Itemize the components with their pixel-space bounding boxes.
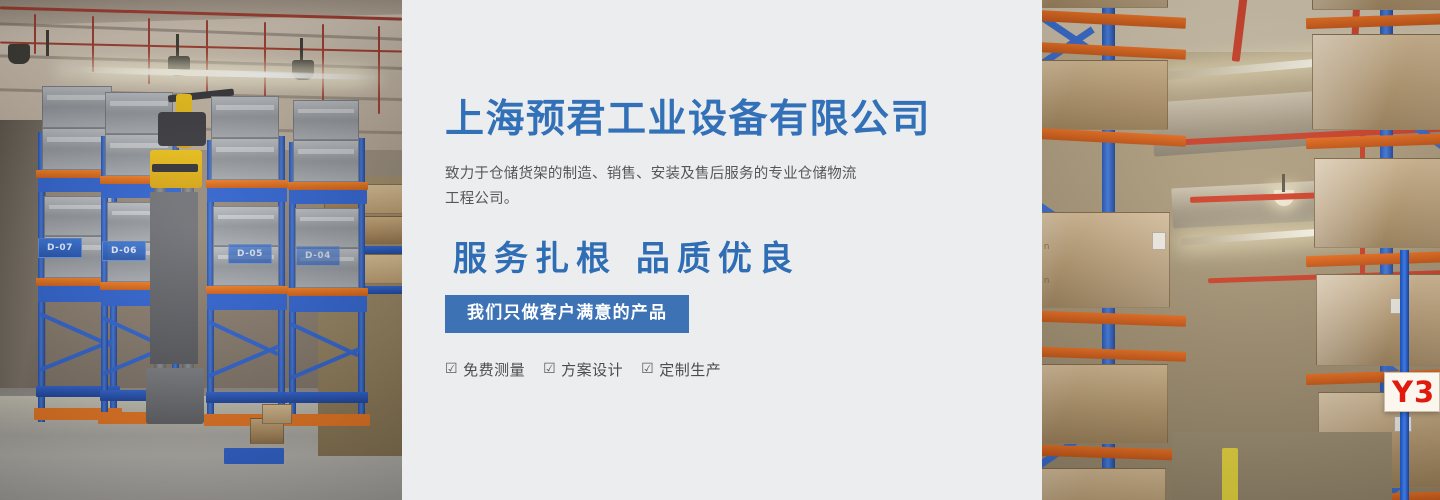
forklift-base <box>146 368 204 424</box>
feature-item-free-measurement: ☑ 免费测量 <box>445 359 525 380</box>
sprinkler-drop <box>92 16 94 72</box>
sprinkler-drop <box>378 26 380 114</box>
rack-upright <box>358 138 365 422</box>
forklift-cab <box>158 112 206 146</box>
forklift-mast <box>1222 448 1238 500</box>
rack-brace <box>290 347 360 380</box>
rack-beam <box>288 288 368 296</box>
wrapped-pallet <box>1042 0 1168 8</box>
aisle-tag: D-06 <box>102 241 146 261</box>
company-title: 上海预君工业设备有限公司 <box>445 99 1005 142</box>
rack-column-right <box>1342 0 1440 500</box>
feature-label: 方案设计 <box>561 359 623 380</box>
carton <box>364 254 402 284</box>
aisle-tag: D-04 <box>296 246 340 266</box>
center-content-panel: 上海预君工业设备有限公司 致力于仓储货架的制造、销售、安装及售后服务的专业仓储物… <box>402 0 1042 500</box>
carton <box>364 216 402 244</box>
rack-column-left: foxconn foxconn foxconn foxconn <box>1042 0 1182 500</box>
rack-brace <box>208 344 280 377</box>
stacked-tote <box>211 96 279 138</box>
wrapped-pallet <box>1314 158 1440 248</box>
sprinkler-drop <box>322 24 324 108</box>
right-photo-wrapper: foxconn foxconn foxconn foxconn <box>1042 0 1440 500</box>
wood-pallet <box>1042 468 1166 500</box>
aisle-tag: D-05 <box>228 244 272 264</box>
feature-item-scheme-design: ☑ 方案设计 <box>543 359 623 380</box>
stacked-tote <box>295 208 359 248</box>
ceiling-lamp <box>8 44 30 64</box>
stacked-tote <box>211 138 279 180</box>
carton <box>364 184 402 214</box>
copy-block: 上海预君工业设备有限公司 致力于仓储货架的制造、销售、安装及售后服务的专业仓储物… <box>445 0 1005 380</box>
rack-beam <box>206 286 288 294</box>
slogan: 服务扎根 品质优良 <box>453 231 1005 280</box>
feature-list: ☑ 免费测量 ☑ 方案设计 ☑ 定制生产 <box>445 359 1005 380</box>
rack-beam <box>288 392 368 403</box>
orange-foot <box>286 414 370 426</box>
floor-pallet <box>224 448 284 464</box>
floor-carton <box>262 404 292 424</box>
company-subtitle: 致力于仓储货架的制造、销售、安装及售后服务的专业仓储物流工程公司。 <box>445 162 860 213</box>
light-hanger <box>300 38 303 60</box>
aisle-tag: D-07 <box>38 238 82 258</box>
sprinkler-drop <box>264 22 266 100</box>
stacked-tote <box>293 100 359 140</box>
wrapped-pallet <box>1316 274 1440 366</box>
sprinkler-drop <box>206 20 208 92</box>
forklift-detail <box>152 164 198 172</box>
rack-beam <box>288 182 368 190</box>
wrapped-pallet <box>1312 0 1440 10</box>
edge-aisle-code-sign: Y3 <box>1384 372 1440 412</box>
light-hanger <box>46 30 49 56</box>
check-icon: ☑ <box>641 362 654 376</box>
carton-brand-text: foxconn <box>1042 242 1050 252</box>
stacked-tote <box>293 140 359 182</box>
feature-label: 免费测量 <box>463 359 525 380</box>
check-icon: ☑ <box>445 362 458 376</box>
blue-pallet <box>289 296 367 312</box>
box-label <box>1152 232 1166 250</box>
carton-brand-text: foxconn <box>1042 276 1050 286</box>
stacked-tote <box>213 206 279 246</box>
forklift-guard <box>150 192 198 364</box>
check-icon: ☑ <box>543 362 556 376</box>
blue-pallet <box>207 294 287 310</box>
rack-beam <box>206 392 288 403</box>
edge-aisle-code-text: Y3 <box>1392 375 1435 409</box>
blue-pallet <box>207 188 287 202</box>
feature-label: 定制生产 <box>659 359 721 380</box>
sprinkler-drop <box>34 14 36 54</box>
wrapped-pallet <box>1042 212 1170 308</box>
wood-pallet <box>1042 60 1168 130</box>
feature-item-custom-production: ☑ 定制生产 <box>641 359 721 380</box>
light-hanger <box>176 34 179 58</box>
lamp-hanger <box>1282 174 1285 192</box>
wood-pallet <box>1042 364 1168 444</box>
left-warehouse-photo: D-07 D-06 D-05 D-04 <box>0 0 402 500</box>
blue-pallet <box>289 190 367 204</box>
aisle-floor <box>1172 432 1392 500</box>
cta-button[interactable]: 我们只做客户满意的产品 <box>445 295 689 333</box>
rack-beam <box>206 180 288 188</box>
right-warehouse-photo: foxconn foxconn foxconn foxconn <box>1042 0 1440 500</box>
wrapped-pallet <box>1312 34 1440 130</box>
hero-banner: D-07 D-06 D-05 D-04 上海预君工业设备有限公司 致力于仓储货架… <box>0 0 1440 500</box>
